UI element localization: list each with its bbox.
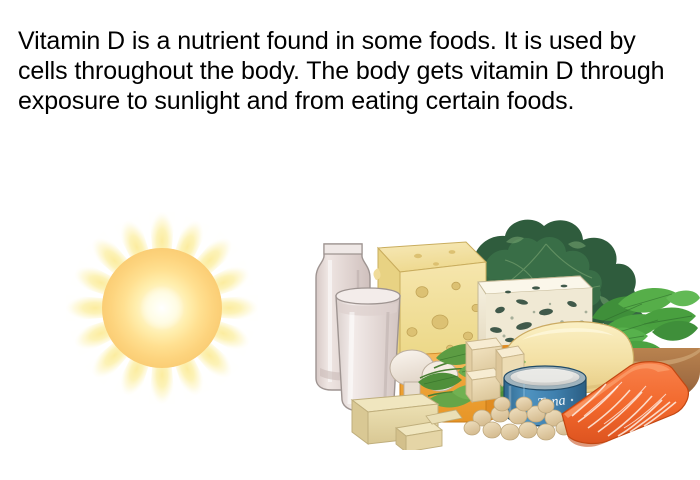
sun-illustration xyxy=(62,208,262,408)
sun-core-glow-icon xyxy=(140,286,184,330)
page-title: Vitamin D is a nutrient found in some fo… xyxy=(18,26,690,116)
vitamin-d-foods-illustration: Tuna xyxy=(300,200,700,450)
illustration-row: Tuna xyxy=(0,190,700,450)
page-root: Vitamin D is a nutrient found in some fo… xyxy=(0,0,700,480)
milk-glass-icon xyxy=(336,288,400,412)
